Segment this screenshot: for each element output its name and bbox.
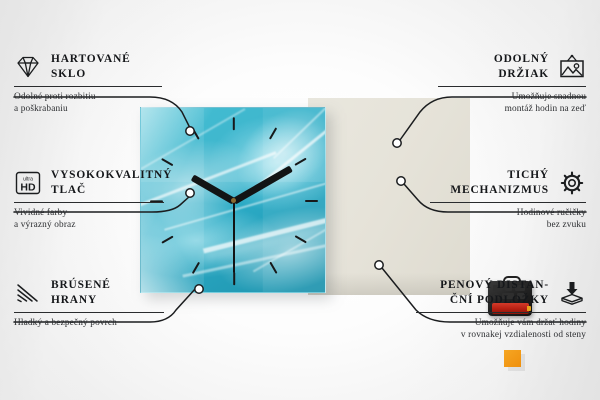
feature-silent-mechanism: TICHÝ MECHANIZMUS Hodinové ručičky bez z…: [430, 168, 586, 232]
feature-header: ODOLNÝ DRŽIAK: [438, 52, 586, 81]
divider: [438, 86, 586, 87]
infographic-canvas: HARTOVANÉ SKLO Odolné proti rozbitiu a p…: [0, 0, 600, 400]
product-photo: [140, 105, 470, 295]
feature-tempered-glass: HARTOVANÉ SKLO Odolné proti rozbitiu a p…: [14, 52, 162, 116]
divider: [14, 312, 164, 313]
feature-foam-spacers: PENOVÝ DISTAN- ČNÍ PODLOŽKY Umožňuje vám…: [416, 278, 586, 342]
feature-description: Umožňuje snadnou montáž hodin na zeď: [438, 91, 586, 116]
picture-hanger-icon: [558, 54, 586, 80]
feature-title: HARTOVANÉ SKLO: [51, 52, 131, 81]
feature-header: PENOVÝ DISTAN- ČNÍ PODLOŽKY: [416, 278, 586, 307]
feature-description: Hodinové ručičky bez zvuku: [430, 207, 586, 232]
feature-description: Umožňuje vám držať hodiny v rovnakej vzd…: [416, 317, 586, 342]
feature-header: TICHÝ MECHANIZMUS: [430, 168, 586, 197]
clock-second-hand: [233, 201, 235, 273]
ultra-hd-icon: ultra HD: [14, 170, 42, 196]
feature-high-quality-print: ultra HD VYSOKOKVALITNÝ TLAČ Vividné far…: [14, 168, 164, 232]
diamond-icon: [14, 54, 42, 80]
foam-pad-icon: [558, 280, 586, 306]
clock-center-pin: [231, 198, 236, 203]
feature-description: Vividné farby a výrazný obraz: [14, 207, 164, 232]
feature-description: Odolné proti rozbitiu a poškrabaniu: [14, 91, 162, 116]
feature-header: BRÚSENÉ HRANY: [14, 278, 164, 307]
feature-title: PENOVÝ DISTAN- ČNÍ PODLOŽKY: [440, 278, 549, 307]
divider: [14, 86, 162, 87]
feature-title: TICHÝ MECHANIZMUS: [450, 168, 549, 197]
clock-tick: [233, 272, 235, 285]
feature-description: Hladký a bezpečný povrch: [14, 317, 164, 329]
feature-header: HARTOVANÉ SKLO: [14, 52, 162, 81]
divider: [430, 202, 586, 203]
svg-text:HD: HD: [20, 181, 36, 193]
feature-ground-edges: BRÚSENÉ HRANY Hladký a bezpečný povrch: [14, 278, 164, 329]
foam-spacer-pad: [504, 350, 521, 367]
feature-header: ultra HD VYSOKOKVALITNÝ TLAČ: [14, 168, 164, 197]
divider: [416, 312, 586, 313]
feature-title: VYSOKOKVALITNÝ TLAČ: [51, 168, 172, 197]
glass-wall-clock: [140, 107, 326, 293]
gear-icon: [558, 170, 586, 196]
feature-durable-hanger: ODOLNÝ DRŽIAK Umožňuje snadnou montáž ho…: [438, 52, 586, 116]
feature-title: ODOLNÝ DRŽIAK: [494, 52, 549, 81]
divider: [14, 202, 164, 203]
ground-edges-icon: [14, 280, 42, 306]
feature-title: BRÚSENÉ HRANY: [51, 278, 111, 307]
